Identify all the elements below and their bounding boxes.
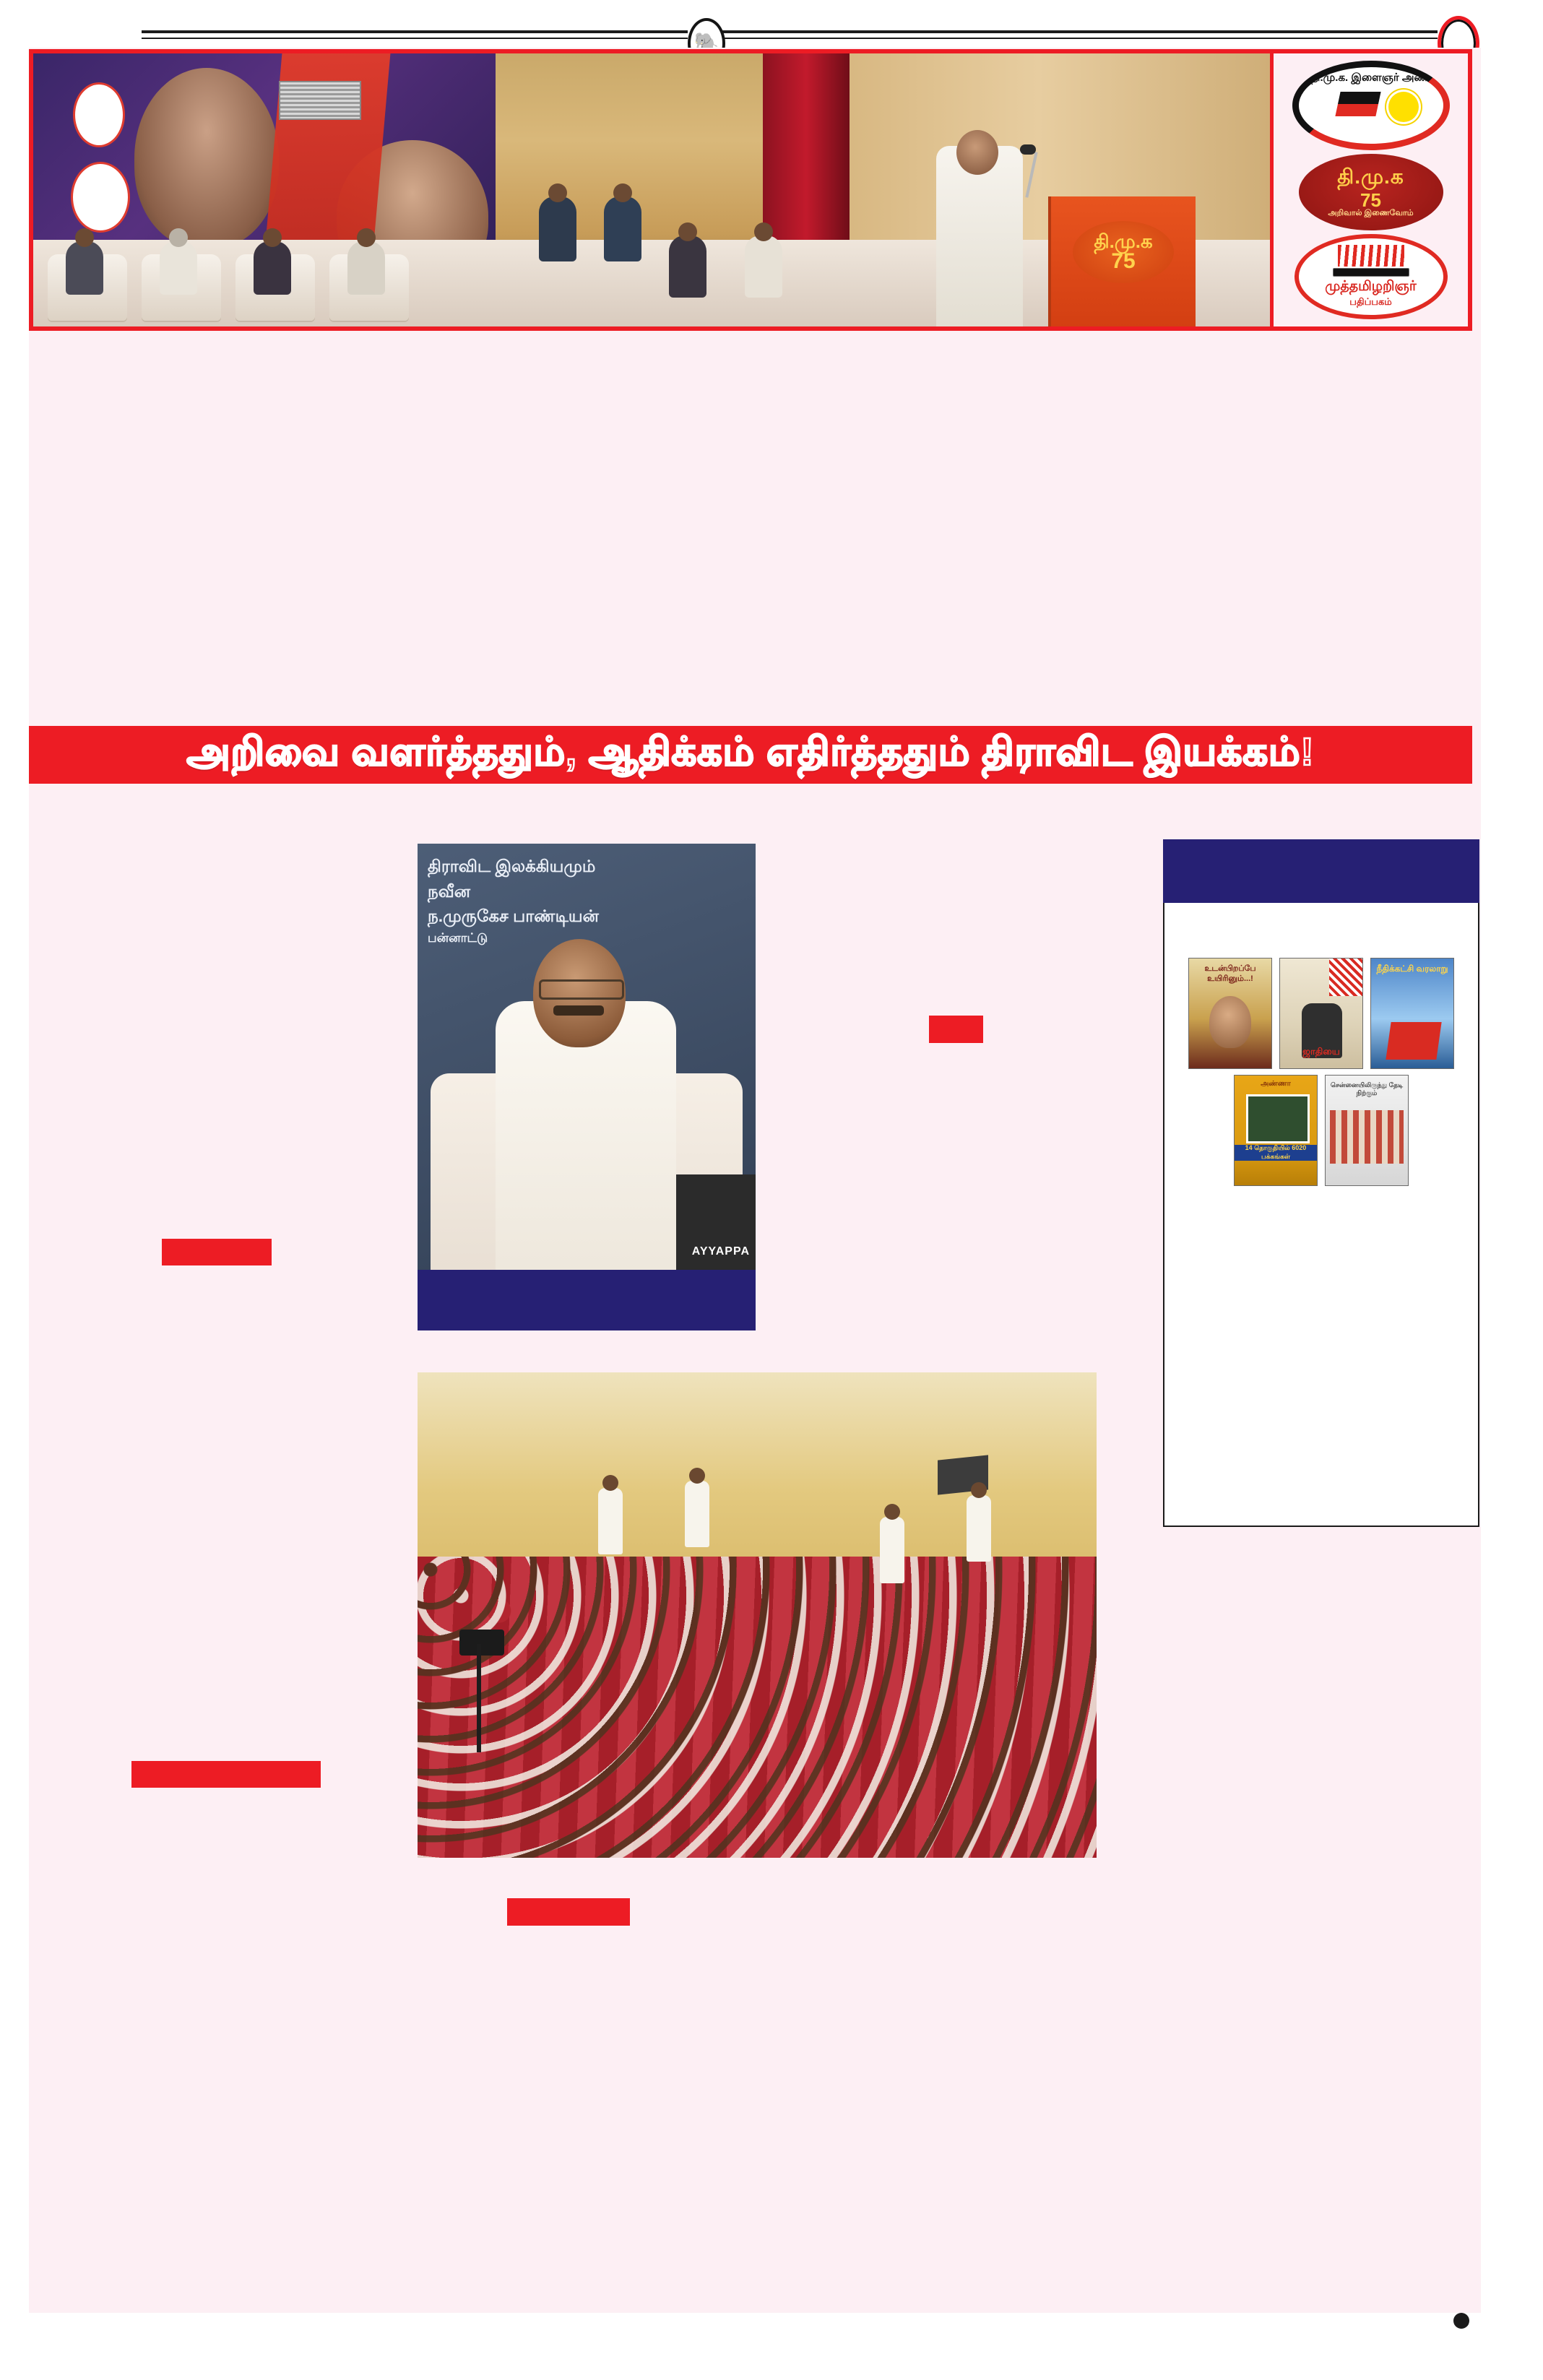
dmk-youth-wing-logo-label: தி.மு.க. இளைஞர் அணி (1299, 72, 1443, 85)
masthead-rule-right-top (722, 30, 1438, 33)
stage-person (160, 241, 197, 295)
standing-usher (685, 1481, 709, 1547)
redacted-block-1 (929, 1016, 983, 1043)
banner-logo-column: தி.மு.க. இளைஞர் அணி தி.மு.க 75 அறிவால் இ… (1270, 53, 1468, 326)
moustache-icon (553, 1005, 604, 1016)
publisher-logo-subtitle: பதிப்பகம் (1349, 296, 1391, 308)
open-book-icon (1333, 268, 1409, 277)
book-subtitle: 14 தொகுதியில் 6020 பக்கங்கள் (1235, 1145, 1317, 1161)
backdrop-logo-bottom-icon (71, 162, 130, 233)
book-title: ஜாதியை (1280, 1046, 1362, 1058)
masthead-rule-left-top (142, 30, 688, 33)
stage-person-head (678, 222, 697, 241)
redacted-block-3 (418, 1270, 756, 1330)
standing-usher-head (602, 1475, 618, 1491)
standing-usher (880, 1517, 904, 1583)
backdrop-logo-top-icon (73, 82, 125, 147)
amplifier-brand-label: AYYAPPA (692, 1245, 750, 1258)
backdrop-line-2: நவீன (428, 879, 750, 904)
book-title: சென்னையிலிருந்து தேடி நிற்கும் (1326, 1081, 1408, 1097)
book-title: உடன்பிறப்பே உயிரினும்...! (1189, 964, 1271, 985)
stage-person (254, 241, 291, 295)
headline-text: அறிவை வளர்த்ததும், ஆதிக்கம் எதிர்த்ததும்… (187, 730, 1315, 780)
stage-person (604, 196, 641, 261)
backdrop-line-1: திராவிட இலக்கியமும் (428, 854, 750, 879)
backdrop-line-3: ந.முருகேச பாண்டியன் (428, 904, 750, 929)
book-showcase-header (1163, 839, 1479, 903)
tripod-icon (477, 1644, 481, 1752)
stage-person-head (75, 228, 94, 247)
book-portrait-icon (1209, 996, 1251, 1048)
dmk-youth-wing-logo: தி.மு.க. இளைஞர் அணி (1292, 61, 1450, 150)
rising-sun-icon (1388, 92, 1419, 122)
dmk-75-logo-title: தி.மு.க (1337, 165, 1404, 191)
event-banner: தி.மு.க 75 தி.மு.க. இளைஞர் அணி தி.மு.க 7… (29, 49, 1472, 331)
stage-person-head (613, 183, 632, 202)
standing-usher (967, 1495, 991, 1562)
masthead-rule-right-bottom (722, 38, 1438, 39)
book-grid: உடன்பிறப்பே உயிரினும்...! ஜாதியை நீதிக்க… (1164, 958, 1478, 1186)
publisher-logo-title: முத்தமிழறிஞர் (1325, 279, 1417, 296)
dmk-flag-icon (1335, 92, 1380, 116)
newspaper-page: 🐘 (0, 0, 1543, 2380)
dmk-75-logo-year: 75 (1360, 191, 1381, 209)
standing-usher-head (884, 1504, 900, 1520)
microphone-icon (1020, 144, 1036, 155)
standing-usher (598, 1488, 623, 1554)
red-flag-icon (1386, 1022, 1441, 1060)
redacted-block-4 (131, 1761, 321, 1788)
sun-rays-icon (1338, 245, 1404, 267)
book-portrait-icon (1246, 1094, 1310, 1143)
stage-person (347, 241, 385, 295)
wall-vent-icon (279, 81, 361, 120)
podium-logo: தி.மு.க 75 (1073, 221, 1174, 283)
book-cover[interactable]: சென்னையிலிருந்து தேடி நிற்கும் (1325, 1075, 1409, 1186)
book-row: அண்ணா 14 தொகுதியில் 6020 பக்கங்கள் சென்ன… (1234, 1075, 1409, 1186)
headline-bar: அறிவை வளர்த்ததும், ஆதிக்கம் எதிர்த்ததும்… (29, 726, 1472, 784)
podium: தி.மு.க 75 (1048, 196, 1196, 326)
book-showcase-box: உடன்பிறப்பே உயிரினும்...! ஜாதியை நீதிக்க… (1163, 839, 1479, 1527)
book-title: அண்ணா (1235, 1080, 1317, 1089)
stage-person (539, 196, 576, 261)
stage-person-head (169, 228, 188, 247)
video-camera-icon (459, 1630, 504, 1656)
redacted-block-5 (507, 1898, 630, 1926)
banner-photo: தி.மு.க 75 (33, 53, 1270, 326)
book-cover[interactable]: ஜாதியை (1279, 958, 1363, 1069)
stage-person-head (754, 222, 773, 241)
photo-seated-speaker: திராவிட இலக்கியமும் நவீன ந.முருகேச பாண்ட… (418, 844, 756, 1312)
speaker-head (956, 130, 998, 175)
photo-audience-hall (418, 1372, 1097, 1858)
book-cover[interactable]: உடன்பிறப்பே உயிரினும்...! (1188, 958, 1272, 1069)
book-crowd-photo (1330, 1110, 1404, 1164)
podium-brand: தி.மு.க (1094, 232, 1152, 251)
stage-person (745, 235, 782, 298)
page-footer-dot (1453, 2313, 1469, 2329)
podium-year: 75 (1111, 251, 1135, 272)
standing-usher-head (689, 1468, 705, 1484)
stage-person (66, 241, 103, 295)
masthead-rule-left-bottom (142, 38, 688, 39)
eyeglasses-icon (539, 979, 624, 1000)
backdrop-portrait-left (134, 68, 279, 248)
book-title: நீதிக்கட்சி வரலாறு (1371, 964, 1453, 974)
stage-person (669, 235, 706, 298)
book-cover[interactable]: நீதிக்கட்சி வரலாறு (1370, 958, 1454, 1069)
book-cover[interactable]: அண்ணா 14 தொகுதியில் 6020 பக்கங்கள் (1234, 1075, 1318, 1186)
dmk-75-logo: தி.மு.க 75 அறிவால் இணைவோம் (1299, 154, 1443, 230)
dmk-75-logo-tagline: அறிவால் இணைவோம் (1328, 209, 1413, 219)
stage-person-head (357, 228, 376, 247)
stage-person-head (263, 228, 282, 247)
stage-person-head (548, 183, 567, 202)
book-corner-decor (1329, 959, 1362, 996)
muthamizharignar-pathippagam-logo: முத்தமிழறிஞர் பதிப்பகம் (1295, 234, 1448, 319)
seated-person-body (496, 1001, 676, 1312)
book-row: உடன்பிறப்பே உயிரினும்...! ஜாதியை நீதிக்க… (1188, 958, 1454, 1069)
standing-usher-head (971, 1482, 987, 1498)
redacted-block-2 (162, 1239, 272, 1265)
